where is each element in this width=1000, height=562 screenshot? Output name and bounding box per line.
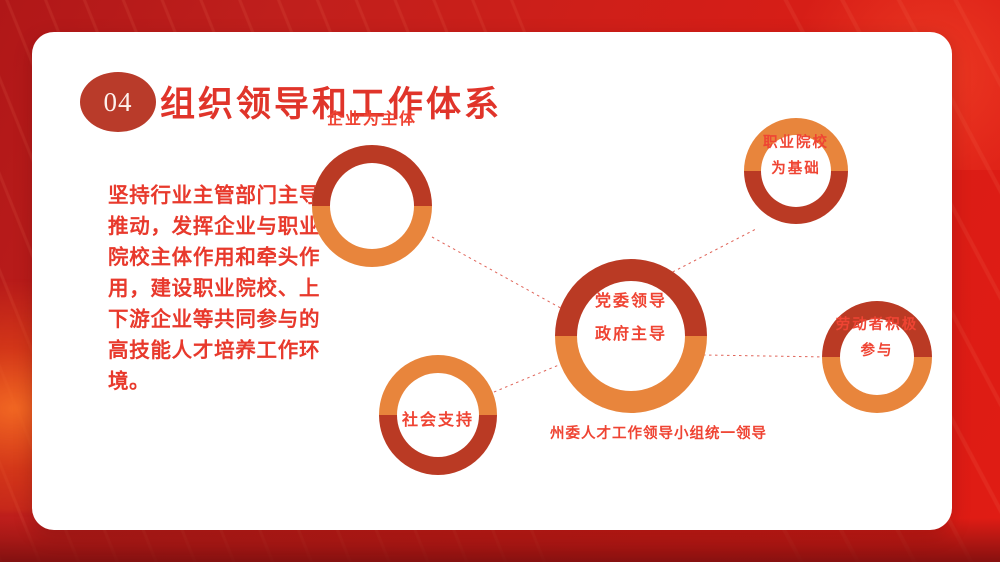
slide-root: 04 组织领导和工作体系 坚持行业主管部门主导推动，发挥企业与职业院校主体作用和… (0, 0, 1000, 562)
node-center-leadership-label-line1: 党委领导 (595, 291, 667, 310)
node-vocational-school-label: 职业院校 为基础 (763, 130, 829, 182)
node-vocational-school-label-line2: 为基础 (763, 156, 829, 182)
diagram-caption: 州委人才工作领导小组统一领导 (550, 422, 767, 443)
node-workers-label-line1: 劳动者积极 (836, 316, 919, 333)
node-enterprise-label-line1: 企业为主体 (327, 109, 417, 128)
node-vocational-school-label-line1: 职业院校 (763, 134, 829, 151)
node-enterprise[interactable] (312, 145, 432, 267)
node-enterprise-label: 企业为主体 (327, 108, 417, 130)
node-center-leadership-label: 党委领导 政府主导 (595, 284, 667, 350)
ring-hole (330, 163, 414, 249)
node-social-support-label: 社会支持 (402, 409, 474, 431)
organization-diagram: 企业为主体 职业院校 为基础 党委领导 政府主导 (32, 32, 952, 530)
node-workers-label: 劳动者积极 参与 (836, 312, 919, 364)
content-card: 04 组织领导和工作体系 坚持行业主管部门主导推动，发挥企业与职业院校主体作用和… (32, 32, 952, 530)
node-center-leadership-label-line2: 政府主导 (595, 317, 667, 350)
node-social-support-label-line1: 社会支持 (402, 410, 474, 429)
node-workers-label-line2: 参与 (836, 338, 919, 364)
